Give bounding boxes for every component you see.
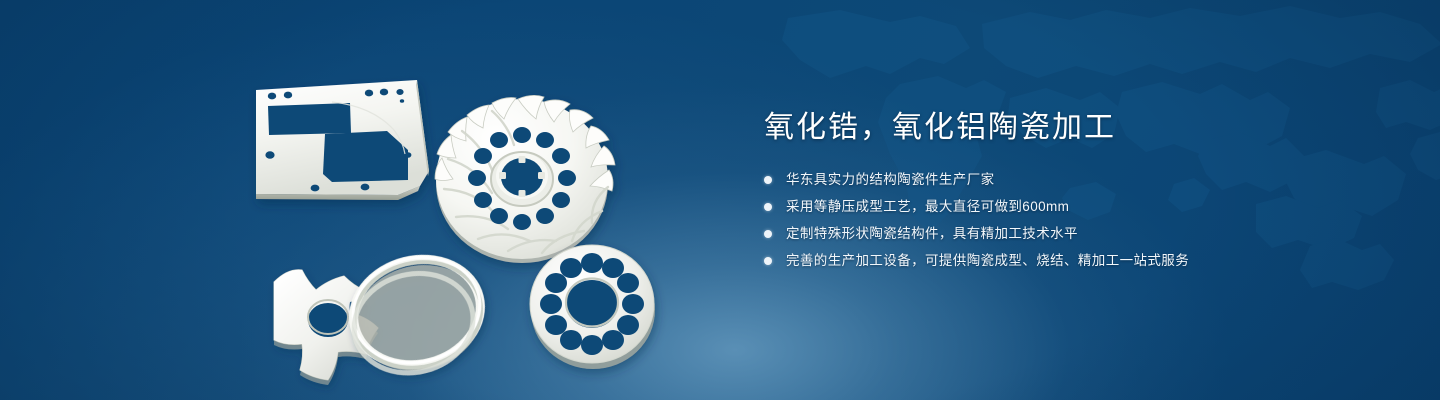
product-photo-group: [232, 34, 702, 384]
ceramic-impeller-shape: [435, 95, 615, 263]
list-item: 采用等静压成型工艺，最大直径可做到600mm: [764, 197, 1384, 217]
ceramic-perforated-disc-shape: [530, 245, 655, 369]
bullet-dot-icon: [764, 203, 772, 211]
list-item: 定制特殊形状陶瓷结构件，具有精加工技术水平: [764, 224, 1384, 244]
page-title: 氧化锆，氧化铝陶瓷加工: [764, 108, 1384, 148]
ceramic-ring-shape: [340, 244, 493, 385]
bullet-dot-icon: [764, 176, 772, 184]
list-item: 华东具实力的结构陶瓷件生产厂家: [764, 170, 1384, 190]
list-item-label: 华东具实力的结构陶瓷件生产厂家: [786, 172, 995, 187]
list-item-label: 完善的生产加工设备，可提供陶瓷成型、烧结、精加工一站式服务: [786, 253, 1189, 268]
list-item: 完善的生产加工设备，可提供陶瓷成型、烧结、精加工一站式服务: [764, 251, 1384, 271]
list-item-label: 定制特殊形状陶瓷结构件，具有精加工技术水平: [786, 226, 1078, 241]
feature-list: 华东具实力的结构陶瓷件生产厂家 采用等静压成型工艺，最大直径可做到600mm 定…: [764, 170, 1384, 271]
hero-banner: 氧化锆，氧化铝陶瓷加工 华东具实力的结构陶瓷件生产厂家 采用等静压成型工艺，最大…: [0, 0, 1440, 400]
bullet-dot-icon: [764, 230, 772, 238]
bullet-dot-icon: [764, 257, 772, 265]
ceramic-flat-plate-shape: [256, 80, 429, 200]
banner-copy: 氧化锆，氧化铝陶瓷加工 华东具实力的结构陶瓷件生产厂家 采用等静压成型工艺，最大…: [764, 108, 1384, 278]
list-item-label: 采用等静压成型工艺，最大直径可做到600mm: [786, 199, 1069, 214]
